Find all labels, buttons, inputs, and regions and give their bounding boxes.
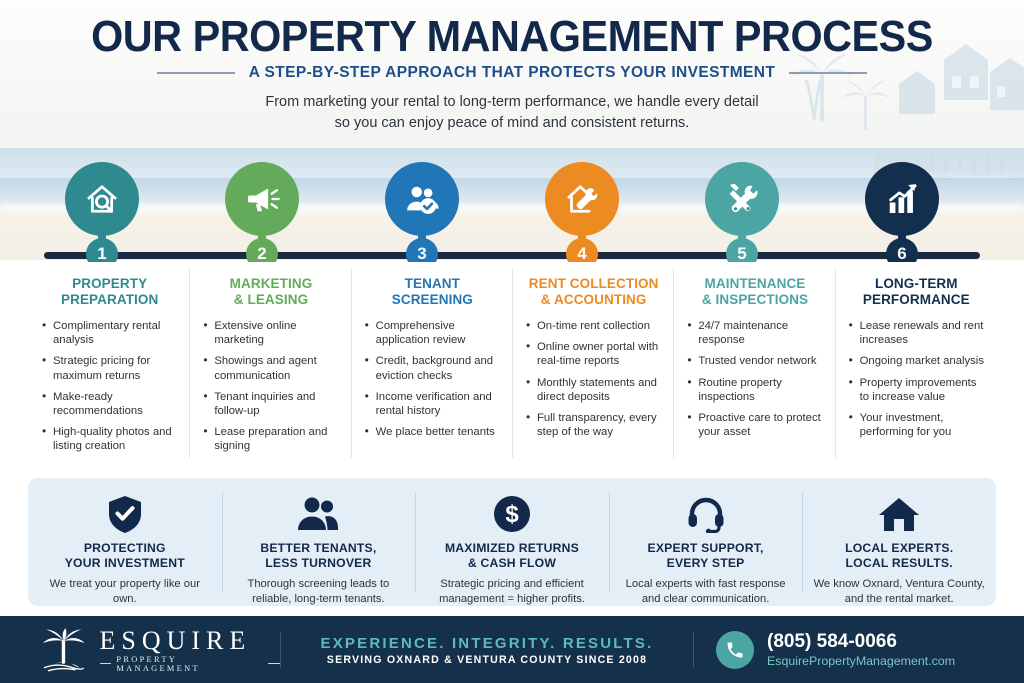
house-magnifier-icon	[81, 178, 123, 220]
benefit-title-5: LOCAL EXPERTS.LOCAL RESULTS.	[812, 541, 986, 571]
timeline-node-3[interactable]: 3	[337, 148, 507, 236]
website-link[interactable]: EsquirePropertyManagement.com	[767, 653, 955, 669]
step-2-bullet-1: Extensive online marketing	[203, 319, 338, 347]
company-logo[interactable]: ESQUIRE PROPERTY MANAGEMENT	[0, 627, 280, 673]
tagline-sub: SERVING OXNARD & VENTURA COUNTY SINCE 20…	[291, 654, 683, 666]
subtitle-row: A STEP-BY-STEP APPROACH THAT PROTECTS YO…	[0, 64, 1024, 82]
dollar-circle-icon: $	[493, 495, 531, 533]
benefit-icon-wrap-3: $	[425, 494, 599, 534]
benefit-title-4: EXPERT SUPPORT,EVERY STEP	[619, 541, 793, 571]
step-title-line1-6: LONG-TERM	[875, 276, 958, 291]
phone-icon	[725, 640, 745, 660]
people-icon	[296, 496, 340, 532]
step-title-2: MARKETING& LEASING	[203, 276, 338, 308]
benefit-icon-wrap-4	[619, 494, 793, 534]
step-1-bullet-3: Make-ready recommendations	[42, 390, 177, 418]
step-icon-circle-1	[65, 162, 139, 236]
benefit-desc-1: We treat your property like our own.	[38, 577, 212, 606]
step-2-bullet-4: Lease preparation and signing	[203, 425, 338, 453]
footer-tagline: EXPERIENCE. INTEGRITY. RESULTS. SERVING …	[281, 634, 693, 666]
benefit-card-5: LOCAL EXPERTS.LOCAL RESULTS.We know Oxna…	[802, 478, 996, 606]
benefit-title-line2-2: LESS TURNOVER	[265, 556, 371, 570]
benefit-title-line2-4: EVERY STEP	[667, 556, 745, 570]
step-4-bullet-4: Full transparency, every step of the way	[526, 411, 661, 439]
benefit-title-line2-5: LOCAL RESULTS.	[846, 556, 953, 570]
footer-contact[interactable]: (805) 584-0066 EsquirePropertyManagement…	[694, 630, 1024, 669]
benefit-card-2: BETTER TENANTS,LESS TURNOVERThorough scr…	[222, 478, 416, 606]
benefit-title-1: PROTECTINGYOUR INVESTMENT	[38, 541, 212, 571]
step-column-1: PROPERTYPREPARATIONComplimentary rental …	[28, 262, 189, 470]
phone-number[interactable]: (805) 584-0066	[767, 630, 955, 653]
step-title-line1-2: MARKETING	[230, 276, 313, 291]
contact-text: (805) 584-0066 EsquirePropertyManagement…	[767, 630, 955, 669]
step-6-bullet-3: Property improvements to increase value	[849, 376, 984, 404]
timeline-node-4[interactable]: 4	[497, 148, 667, 236]
step-bullet-list-3: Comprehensive application reviewCredit, …	[365, 319, 500, 439]
benefits-bar: PROTECTINGYOUR INVESTMENTWe treat your p…	[28, 478, 996, 606]
headset-icon	[686, 495, 726, 533]
intro-line-1: From marketing your rental to long-term …	[0, 92, 1024, 113]
step-title-line2-5: & INSPECTIONS	[702, 292, 808, 307]
benefit-icon-wrap-1	[38, 494, 212, 534]
benefit-title-line1-5: LOCAL EXPERTS.	[845, 541, 953, 555]
rule-left	[157, 72, 235, 74]
step-icon-circle-6	[865, 162, 939, 236]
timeline-node-2[interactable]: 2	[177, 148, 347, 236]
timeline-node-6[interactable]: 6	[817, 148, 987, 236]
timeline-node-5[interactable]: 5	[657, 148, 827, 236]
phone-icon-badge	[716, 631, 754, 669]
svg-text:$: $	[505, 501, 519, 528]
step-5-bullet-4: Proactive care to protect your asset	[687, 411, 822, 439]
step-title-1: PROPERTYPREPARATION	[42, 276, 177, 308]
intro-line-2: so you can enjoy peace of mind and consi…	[0, 113, 1024, 134]
step-column-6: LONG-TERMPERFORMANCELease renewals and r…	[835, 262, 996, 470]
home-icon	[878, 496, 920, 532]
benefit-icon-wrap-2	[232, 494, 406, 534]
step-column-5: MAINTENANCE& INSPECTIONS24/7 maintenance…	[673, 262, 834, 470]
steps-detail-panel: PROPERTYPREPARATIONComplimentary rental …	[28, 262, 996, 470]
step-5-bullet-3: Routine property inspections	[687, 376, 822, 404]
step-3-bullet-2: Credit, background and eviction checks	[365, 354, 500, 382]
step-4-bullet-3: Monthly statements and direct deposits	[526, 376, 661, 404]
benefit-desc-5: We know Oxnard, Ventura County, and the …	[812, 577, 986, 606]
step-title-line1-5: MAINTENANCE	[705, 276, 806, 291]
step-3-bullet-3: Income verification and rental history	[365, 390, 500, 418]
benefit-title-line1-2: BETTER TENANTS,	[260, 541, 376, 555]
benefit-card-1: PROTECTINGYOUR INVESTMENTWe treat your p…	[28, 478, 222, 606]
logo-name: ESQUIRE	[100, 627, 281, 655]
timeline-nodes: 123456	[0, 148, 1024, 273]
step-6-bullet-4: Your investment, performing for you	[849, 411, 984, 439]
step-bullet-list-5: 24/7 maintenance responseTrusted vendor …	[687, 319, 822, 439]
infographic-page: OUR PROPERTY MANAGEMENT PROCESS A STEP-B…	[0, 0, 1024, 683]
step-1-bullet-1: Complimentary rental analysis	[42, 319, 177, 347]
timeline-node-1[interactable]: 1	[17, 148, 187, 236]
step-column-2: MARKETING& LEASINGExtensive online marke…	[189, 262, 350, 470]
step-4-bullet-1: On-time rent collection	[526, 319, 661, 333]
step-title-line2-1: PREPARATION	[61, 292, 158, 307]
step-2-bullet-2: Showings and agent communication	[203, 354, 338, 382]
page-subtitle: A STEP-BY-STEP APPROACH THAT PROTECTS YO…	[249, 64, 775, 82]
step-title-line1-3: TENANT	[405, 276, 460, 291]
step-title-6: LONG-TERMPERFORMANCE	[849, 276, 984, 308]
step-bullet-list-2: Extensive online marketingShowings and a…	[203, 319, 338, 454]
benefit-title-3: MAXIMIZED RETURNS& CASH FLOW	[425, 541, 599, 571]
benefit-title-line2-1: YOUR INVESTMENT	[65, 556, 185, 570]
tagline-main: EXPERIENCE. INTEGRITY. RESULTS.	[291, 634, 683, 654]
step-3-bullet-1: Comprehensive application review	[365, 319, 500, 347]
step-5-bullet-1: 24/7 maintenance response	[687, 319, 822, 347]
header-section: OUR PROPERTY MANAGEMENT PROCESS A STEP-B…	[0, 0, 1024, 148]
step-2-bullet-3: Tenant inquiries and follow-up	[203, 390, 338, 418]
benefit-title-line2-3: & CASH FLOW	[468, 556, 556, 570]
step-3-bullet-4: We place better tenants	[365, 425, 500, 439]
logo-subtitle: PROPERTY MANAGEMENT	[116, 655, 263, 673]
benefit-title-line1-1: PROTECTING	[84, 541, 166, 555]
step-1-bullet-4: High-quality photos and listing creation	[42, 425, 177, 453]
step-bullet-list-1: Complimentary rental analysisStrategic p…	[42, 319, 177, 454]
step-bullet-list-4: On-time rent collectionOnline owner port…	[526, 319, 661, 439]
step-title-line2-3: SCREENING	[392, 292, 473, 307]
house-wrench-icon	[561, 178, 603, 220]
logo-dash-right	[268, 663, 280, 664]
benefit-icon-wrap-5	[812, 494, 986, 534]
step-4-bullet-2: Online owner portal with real-time repor…	[526, 340, 661, 368]
benefit-desc-4: Local experts with fast response and cle…	[619, 577, 793, 606]
megaphone-icon	[241, 178, 283, 220]
benefit-title-2: BETTER TENANTS,LESS TURNOVER	[232, 541, 406, 571]
step-icon-circle-3	[385, 162, 459, 236]
benefit-title-line1-4: EXPERT SUPPORT,	[648, 541, 764, 555]
logo-dash-left	[100, 663, 112, 664]
tools-icon	[721, 178, 763, 220]
step-column-3: TENANTSCREENINGComprehensive application…	[351, 262, 512, 470]
step-column-4: RENT COLLECTION& ACCOUNTINGOn-time rent …	[512, 262, 673, 470]
step-icon-circle-2	[225, 162, 299, 236]
palm-tree-icon	[38, 627, 90, 673]
step-1-bullet-2: Strategic pricing for maximum returns	[42, 354, 177, 382]
timeline-rail	[44, 252, 980, 259]
rule-right	[789, 72, 867, 74]
step-title-line2-6: PERFORMANCE	[863, 292, 970, 307]
step-title-line1-1: PROPERTY	[72, 276, 147, 291]
people-check-icon	[401, 178, 443, 220]
step-icon-circle-4	[545, 162, 619, 236]
logo-text-block: ESQUIRE PROPERTY MANAGEMENT	[100, 627, 281, 673]
step-title-line2-4: & ACCOUNTING	[541, 292, 647, 307]
intro-text: From marketing your rental to long-term …	[0, 92, 1024, 134]
benefit-card-4: EXPERT SUPPORT,EVERY STEPLocal experts w…	[609, 478, 803, 606]
growth-chart-icon	[881, 178, 923, 220]
shield-check-icon	[107, 495, 143, 533]
step-title-line2-2: & LEASING	[234, 292, 308, 307]
step-title-3: TENANTSCREENING	[365, 276, 500, 308]
step-6-bullet-2: Ongoing market analysis	[849, 354, 984, 368]
page-title: OUR PROPERTY MANAGEMENT PROCESS	[31, 12, 994, 62]
step-title-4: RENT COLLECTION& ACCOUNTING	[526, 276, 661, 308]
logo-subtitle-row: PROPERTY MANAGEMENT	[100, 655, 281, 673]
step-title-line1-4: RENT COLLECTION	[529, 276, 659, 291]
step-title-5: MAINTENANCE& INSPECTIONS	[687, 276, 822, 308]
benefit-desc-3: Strategic pricing and efficient manageme…	[425, 577, 599, 606]
step-6-bullet-1: Lease renewals and rent increases	[849, 319, 984, 347]
benefit-title-line1-3: MAXIMIZED RETURNS	[445, 541, 579, 555]
step-bullet-list-6: Lease renewals and rent increasesOngoing…	[849, 319, 984, 439]
benefit-card-3: $MAXIMIZED RETURNS& CASH FLOWStrategic p…	[415, 478, 609, 606]
benefit-desc-2: Thorough screening leads to reliable, lo…	[232, 577, 406, 606]
step-5-bullet-2: Trusted vendor network	[687, 354, 822, 368]
footer-bar: ESQUIRE PROPERTY MANAGEMENT EXPERIENCE. …	[0, 616, 1024, 683]
step-icon-circle-5	[705, 162, 779, 236]
